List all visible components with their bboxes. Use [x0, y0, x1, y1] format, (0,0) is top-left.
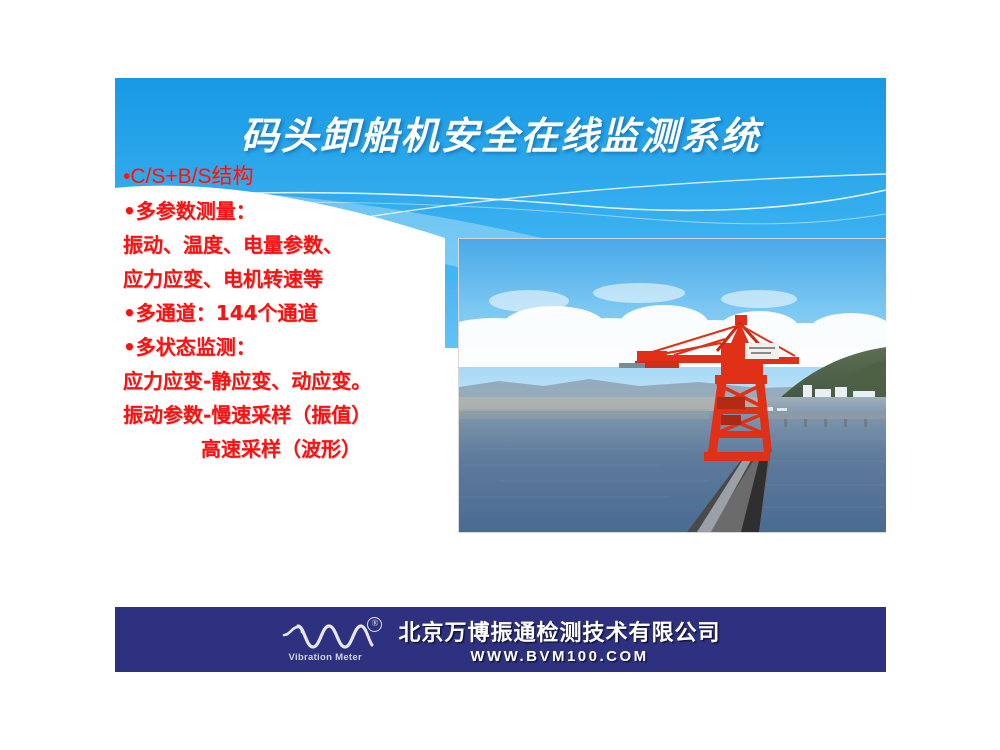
- company-name: 北京万博振通检测技术有限公司: [398, 615, 720, 647]
- footer-bar: ® Vibration Meter 北京万博振通检测技术有限公司 WWW.BVM…: [115, 607, 886, 672]
- list-item: 高速采样（波形）: [123, 439, 468, 459]
- page-title: 码头卸船机安全在线监测系统: [115, 105, 886, 160]
- registered-trademark-icon: ®: [367, 617, 382, 632]
- list-item: 振动参数-慢速采样（振值）: [123, 405, 468, 425]
- list-item: 振动、温度、电量参数、: [123, 235, 468, 255]
- bullet-list: •C/S+B/S结构 •多参数测量： 振动、温度、电量参数、 应力应变、电机转速…: [123, 166, 468, 473]
- list-item: •C/S+B/S结构: [123, 166, 468, 187]
- list-item: 应力应变-静应变、动应变。: [123, 371, 468, 391]
- company-website: WWW.BVM100.COM: [470, 648, 648, 665]
- logo-subtitle: Vibration Meter: [288, 652, 361, 663]
- vibration-meter-logo: ® Vibration Meter: [280, 617, 384, 663]
- list-item: •多状态监测：: [123, 337, 468, 357]
- crane-photo: [458, 238, 886, 533]
- list-item: 应力应变、电机转速等: [123, 269, 468, 289]
- list-item: •多通道：144个通道: [123, 303, 468, 323]
- slide-canvas: 码头卸船机安全在线监测系统 •C/S+B/S结构 •多参数测量： 振动、温度、电…: [115, 78, 886, 672]
- list-item: •多参数测量：: [123, 201, 468, 221]
